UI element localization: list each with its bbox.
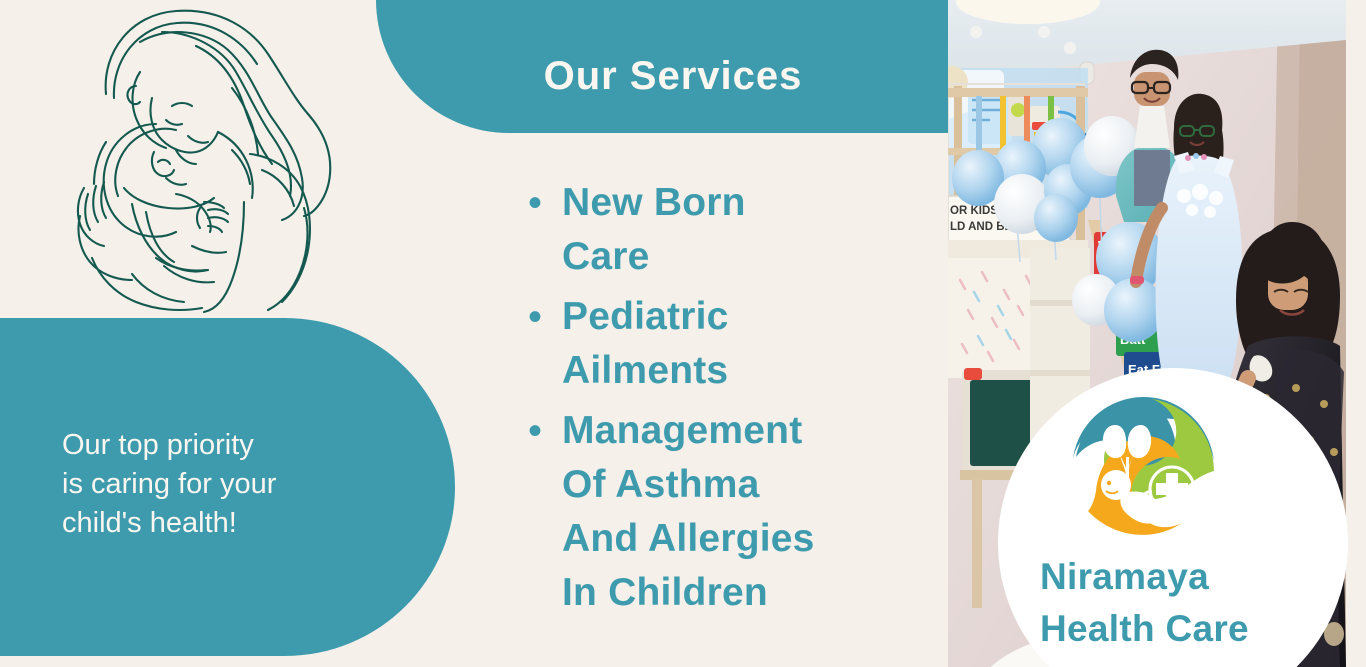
service-item: • New Born Care [528, 176, 928, 284]
poster-canvas: Our Services • New Born Care • Pediatric… [0, 0, 1366, 667]
service-item-label: New Born Care [562, 176, 822, 284]
bullet-icon: • [528, 290, 562, 344]
services-list: • New Born Care • Pediatric Ailments • M… [528, 176, 928, 626]
service-item-label: Management Of Asthma And Allergies In Ch… [562, 404, 822, 620]
service-item: • Pediatric Ailments [528, 290, 928, 398]
our-services-banner: Our Services [376, 0, 950, 133]
triskelion-logo-icon [1068, 393, 1220, 545]
bullet-icon: • [528, 176, 562, 230]
niramaya-logo [1068, 393, 1220, 545]
our-services-title: Our Services [544, 56, 803, 96]
mother-baby-illustration [36, 2, 346, 314]
tagline-panel: Our top priority is caring for your chil… [0, 318, 455, 656]
service-item-label: Pediatric Ailments [562, 290, 822, 398]
mother-baby-line-art-icon [36, 2, 346, 314]
bullet-icon: • [528, 404, 562, 458]
service-item: • Management Of Asthma And Allergies In … [528, 404, 928, 620]
tagline-text: Our top priority is caring for your chil… [0, 426, 276, 549]
brand-name: Niramaya Health Care [1040, 551, 1340, 655]
